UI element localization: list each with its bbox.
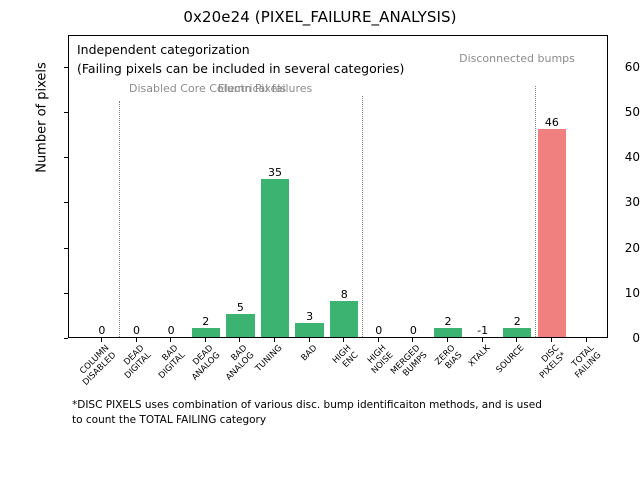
- bar-value-label: 3: [306, 310, 313, 323]
- x-tick-mark: [343, 338, 344, 342]
- y-tick-mark: [64, 338, 68, 339]
- group-separator-line: [362, 96, 363, 338]
- x-tick-mark: [516, 338, 517, 342]
- bar: [261, 179, 289, 337]
- plot-area: 000253538002-1246 Independent categoriza…: [68, 35, 608, 338]
- bar-value-label: 5: [237, 301, 244, 314]
- chart-title: 0x20e24 (PIXEL_FAILURE_ANALYSIS): [0, 8, 640, 26]
- footnote: *DISC PIXELS uses combination of various…: [72, 398, 592, 428]
- bar: [226, 314, 254, 337]
- bar-value-label: 2: [202, 315, 209, 328]
- x-tick-mark: [101, 338, 102, 342]
- group-separator-line: [535, 86, 536, 338]
- group-label-disabled-core-line1: Disabled Core: [129, 82, 206, 95]
- x-tick-mark: [447, 338, 448, 342]
- bar-value-label: 0: [375, 324, 382, 337]
- footnote-line-2: to count the TOTAL FAILING category: [72, 413, 592, 428]
- x-tick-mark: [551, 338, 552, 342]
- x-tick-mark: [136, 338, 137, 342]
- x-tick-mark: [378, 338, 379, 342]
- bar: [503, 328, 531, 337]
- headline-line-2: (Failing pixels can be included in sever…: [77, 61, 404, 76]
- bar: [192, 328, 220, 337]
- group-label-electrical-failures-line1: Electrical failures: [218, 82, 313, 95]
- group-label-disconnected-bumps-line1: Disconnected: [459, 52, 534, 65]
- bar: [434, 328, 462, 337]
- footnote-line-1: *DISC PIXELS uses combination of various…: [72, 398, 592, 413]
- x-tick-mark: [170, 338, 171, 342]
- bar-value-label: 2: [514, 315, 521, 328]
- bar-value-label: -1: [477, 324, 488, 337]
- x-tick-mark: [274, 338, 275, 342]
- group-separator-line: [119, 101, 120, 338]
- bar-value-label: 0: [410, 324, 417, 337]
- headline-line-1: Independent categorization: [77, 42, 250, 57]
- bar-value-label: 35: [268, 166, 282, 179]
- x-tick-mark: [482, 338, 483, 342]
- bar: [330, 301, 358, 337]
- group-label-disconnected-bumps-line2: bumps: [537, 52, 574, 65]
- bar-value-label: 0: [98, 324, 105, 337]
- bar-value-label: 0: [133, 324, 140, 337]
- bar-value-label: 2: [445, 315, 452, 328]
- group-label-electrical-failures: Electrical failures: [218, 82, 313, 95]
- x-tick-mark: [239, 338, 240, 342]
- bar-value-label: 46: [545, 116, 559, 129]
- bar: [538, 129, 566, 337]
- group-label-disconnected-bumps: Disconnected bumps: [459, 52, 575, 65]
- x-tick-mark: [586, 338, 587, 342]
- y-axis-label: Number of pixels: [35, 28, 50, 208]
- x-tick-mark: [205, 338, 206, 342]
- bar-value-label: 8: [341, 288, 348, 301]
- bar: [295, 323, 323, 337]
- figure-canvas: 0x20e24 (PIXEL_FAILURE_ANALYSIS) Number …: [0, 0, 640, 480]
- x-tick-mark: [412, 338, 413, 342]
- bar-value-label: 0: [168, 324, 175, 337]
- x-tick-mark: [309, 338, 310, 342]
